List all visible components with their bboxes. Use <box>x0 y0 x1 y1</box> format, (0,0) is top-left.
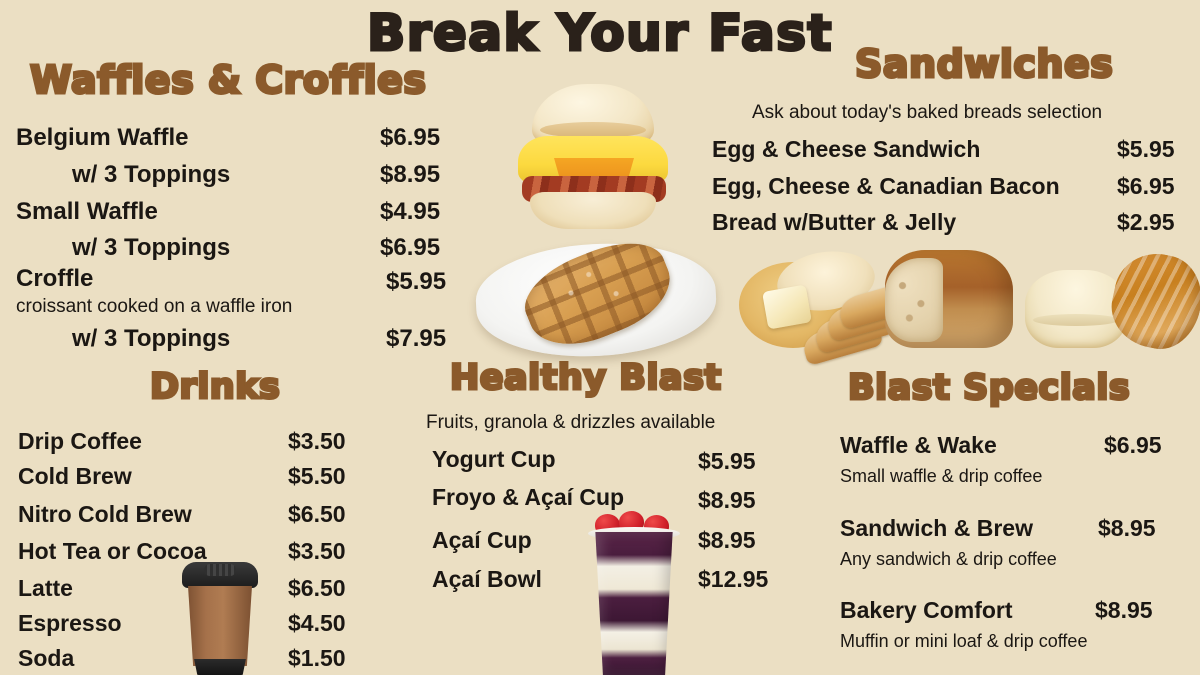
menu-item-price: $6.50 <box>288 575 346 602</box>
menu-item-price: $2.95 <box>1117 209 1175 236</box>
menu-item-name: Latte <box>18 575 73 602</box>
menu-item-name: Sandwich & Brew <box>840 515 1033 542</box>
menu-item-name: Yogurt Cup <box>432 446 556 473</box>
section-title-blast-specials: Blast Specials <box>848 368 1130 408</box>
menu-item-price: $5.95 <box>1117 136 1175 163</box>
bread-assortment-photo <box>735 240 1195 362</box>
menu-item-name: Belgium Waffle <box>16 124 188 152</box>
bread-loaf-cut-face <box>885 258 943 342</box>
menu-item-price: $5.95 <box>386 268 446 296</box>
cup-base <box>193 659 247 675</box>
section-title-sandwiches: Sandwiches <box>855 42 1113 86</box>
section-title-drinks: Drinks <box>150 367 280 407</box>
menu-item-price: $8.95 <box>380 161 440 189</box>
healthy-blast-note: Fruits, granola & drizzles available <box>426 412 715 434</box>
menu-item-name: Nitro Cold Brew <box>18 501 192 528</box>
menu-item-price: $4.95 <box>380 198 440 226</box>
menu-item-price: $7.95 <box>386 325 446 353</box>
menu-item-name: Cold Brew <box>18 463 132 490</box>
menu-item-price: $6.50 <box>288 501 346 528</box>
menu-item-name: Croffle <box>16 265 93 293</box>
menu-item-name: Açaí Bowl <box>432 566 542 593</box>
menu-item-price: $3.50 <box>288 428 346 455</box>
menu-item-name: Bread w/Butter & Jelly <box>712 209 956 236</box>
menu-item-price: $8.95 <box>698 527 756 554</box>
menu-item-description: Muffin or mini loaf & drip coffee <box>840 631 1087 652</box>
menu-item-description: Any sandwich & drip coffee <box>840 549 1057 570</box>
menu-item-description: Small waffle & drip coffee <box>840 466 1042 487</box>
sandwiches-note: Ask about today's baked breads selection <box>752 102 1102 124</box>
menu-item-name: w/ 3 Toppings <box>72 234 230 262</box>
menu-item-price: $6.95 <box>1117 173 1175 200</box>
menu-item-price: $8.95 <box>1098 515 1156 542</box>
menu-item-price: $8.95 <box>698 487 756 514</box>
breakfast-sandwich-photo <box>508 84 678 229</box>
menu-item-price: $12.95 <box>698 566 768 593</box>
croissant <box>1104 246 1200 356</box>
menu-item-name: Drip Coffee <box>18 428 142 455</box>
croffle-description: croissant cooked on a waffle iron <box>16 296 292 318</box>
menu-item-name: Waffle & Wake <box>840 432 997 459</box>
croffle-on-plate-photo <box>476 236 716 361</box>
menu-item-name: Egg & Cheese Sandwich <box>712 136 980 163</box>
menu-item-price: $3.50 <box>288 538 346 565</box>
menu-item-price: $6.95 <box>380 124 440 152</box>
menu-item-price: $5.95 <box>698 448 756 475</box>
menu-item-price: $6.95 <box>380 234 440 262</box>
cup-body <box>188 586 252 666</box>
menu-item-price: $8.95 <box>1095 597 1153 624</box>
cup-lid <box>182 562 258 588</box>
menu-item-name: Espresso <box>18 610 122 637</box>
menu-item-name: Soda <box>18 645 74 672</box>
section-title-waffles: Waffles & Croffles <box>30 58 427 102</box>
coffee-cup-photo <box>182 562 258 675</box>
menu-item-price: $5.50 <box>288 463 346 490</box>
menu-item-name: Egg, Cheese & Canadian Bacon <box>712 173 1060 200</box>
menu-item-name: Açaí Cup <box>432 527 532 554</box>
menu-board: Break Your Fast Waffles & Croffles Belgi… <box>0 0 1200 675</box>
menu-item-price: $6.95 <box>1104 432 1162 459</box>
menu-item-name: Small Waffle <box>16 198 158 226</box>
menu-item-name: Froyo & Açaí Cup <box>432 484 624 511</box>
menu-item-price: $1.50 <box>288 645 346 672</box>
biscuit-bottom <box>530 192 656 229</box>
menu-item-name: w/ 3 Toppings <box>72 325 230 353</box>
menu-item-price: $4.50 <box>288 610 346 637</box>
menu-item-name: w/ 3 Toppings <box>72 161 230 189</box>
menu-item-name: Hot Tea or Cocoa <box>18 538 207 565</box>
section-title-healthy-blast: Healthy Blast <box>450 358 722 398</box>
acai-cup-photo <box>586 514 682 675</box>
acai-parfait-layers <box>592 532 676 675</box>
menu-item-name: Bakery Comfort <box>840 597 1013 624</box>
